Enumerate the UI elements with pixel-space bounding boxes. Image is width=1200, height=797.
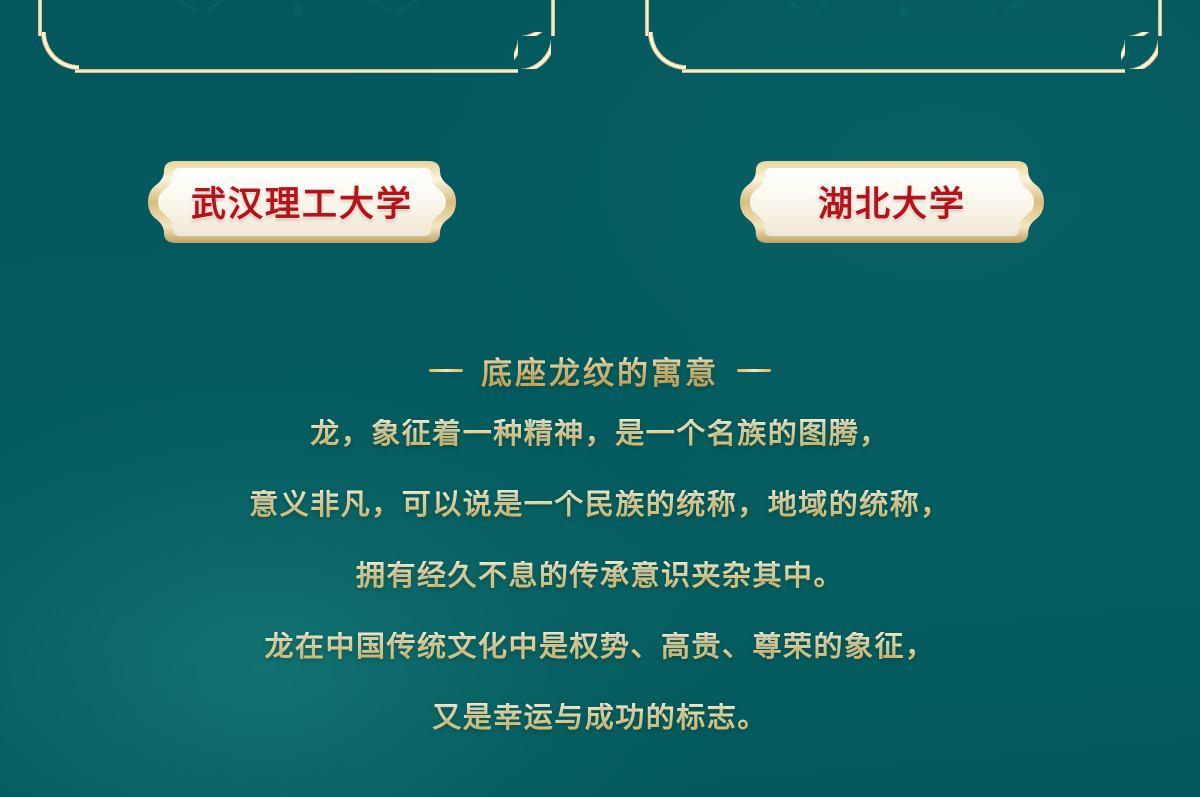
frame-corner-bottom-left xyxy=(38,32,79,73)
body-line: 意义非凡，可以说是一个民族的统称，地域的统称， xyxy=(0,490,1200,519)
section-title-row: 底座龙纹的寓意 xyxy=(0,348,1200,393)
dragon-ornament-icon xyxy=(655,0,1155,21)
decorative-frame-right xyxy=(645,0,1162,73)
body-line: 又是幸运与成功的标志。 xyxy=(0,703,1200,732)
frame-rail-left xyxy=(645,0,649,36)
plaque-hubu[interactable]: 湖北大学 xyxy=(742,155,1042,250)
body-line: 龙，象征着一种精神，是一个名族的图腾， xyxy=(0,419,1200,448)
frame-rail-left xyxy=(38,0,42,36)
body-line: 龙在中国传统文化中是权势、高贵、尊荣的象征， xyxy=(0,632,1200,661)
title-dash-right-icon xyxy=(737,369,771,372)
frame-corner-bottom-right xyxy=(514,32,555,73)
frame-rail-bottom xyxy=(682,69,1125,73)
frame-rail-right xyxy=(551,0,555,36)
plaque-label: 武汉理工大学 xyxy=(150,155,454,250)
poster-canvas: 武汉理工大学 湖北大学 xyxy=(0,0,1200,797)
body-paragraph: 龙，象征着一种精神，是一个名族的图腾， 意义非凡，可以说是一个民族的统称，地域的… xyxy=(0,419,1200,774)
plaque-wut[interactable]: 武汉理工大学 xyxy=(150,155,454,250)
frame-corner-bottom-left xyxy=(645,32,686,73)
frame-rail-right xyxy=(1158,0,1162,36)
meaning-section: 底座龙纹的寓意 龙，象征着一种精神，是一个名族的图腾， 意义非凡，可以说是一个民… xyxy=(0,348,1200,774)
section-title: 底座龙纹的寓意 xyxy=(481,348,719,393)
decorative-frame-left xyxy=(38,0,555,73)
frame-rail-bottom xyxy=(75,69,518,73)
plaque-label: 湖北大学 xyxy=(742,155,1042,250)
title-dash-left-icon xyxy=(429,369,463,372)
body-line: 拥有经久不息的传承意识夹杂其中。 xyxy=(0,561,1200,590)
frame-corner-bottom-right xyxy=(1121,32,1162,73)
dragon-ornament-icon xyxy=(48,0,548,21)
